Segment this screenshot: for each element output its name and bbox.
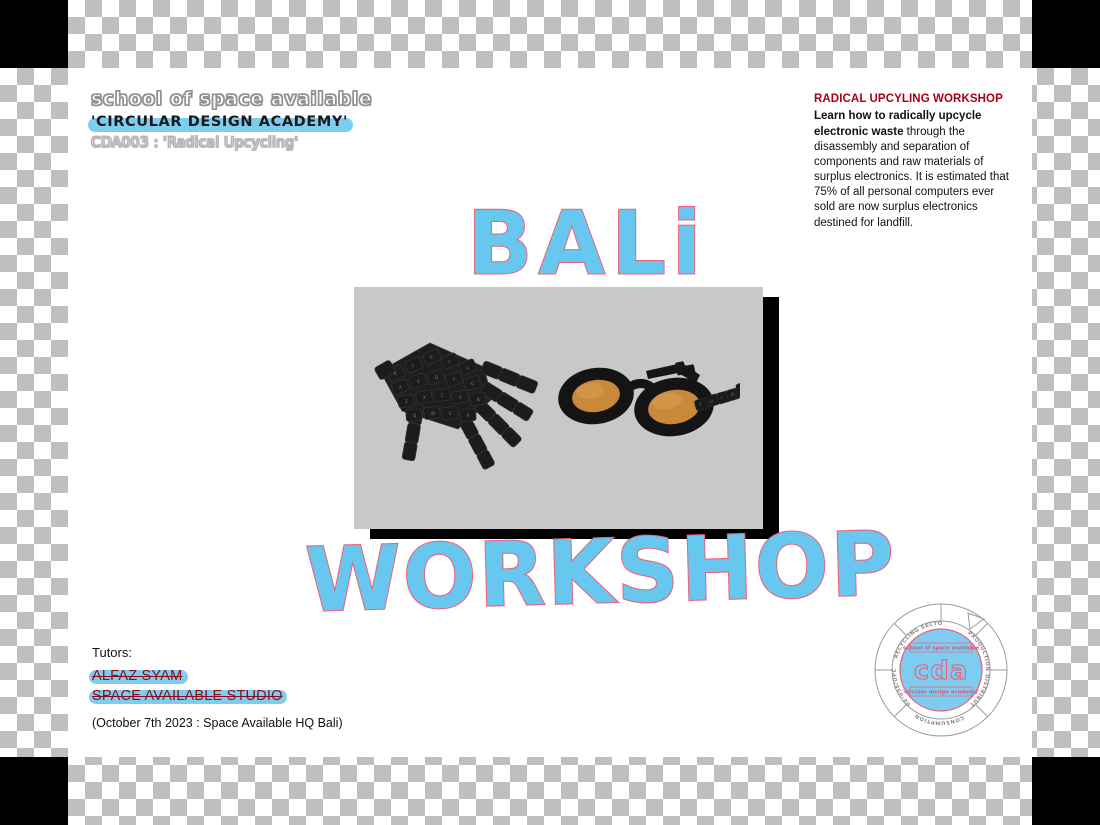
svg-text:A: A <box>399 385 402 390</box>
course-code: CDA003 : 'Radical Upcycling' <box>91 135 341 151</box>
svg-text:Y: Y <box>447 360 451 365</box>
cda-seal: RECYCLING SECTOR PRODUCTION DISTRIBUTION… <box>872 601 1010 739</box>
corner-block-top-right <box>1032 0 1100 68</box>
seal-center-top: school of space available <box>903 646 980 652</box>
svg-text:D: D <box>435 375 438 380</box>
seal-wordmark: cda <box>914 656 969 686</box>
copy-heading: RADICAL UPCYLING WORKSHOP <box>814 92 1016 106</box>
copy-body-rest: through the disassembly and separation o… <box>814 126 1009 229</box>
tutors-block: Tutors: ALFAZ SYAM SPACE AVAILABLE STUDI… <box>92 645 372 730</box>
header-lockup: school of space available 'CIRCULAR DESI… <box>91 88 341 151</box>
svg-text:U: U <box>710 399 713 404</box>
svg-text:R: R <box>467 413 470 418</box>
school-wordmark: school of space available <box>91 88 341 110</box>
tutors-label: Tutors: <box>92 645 372 660</box>
svg-text:B: B <box>477 397 480 402</box>
tutor-name: SPACE AVAILABLE STUDIO <box>92 688 283 704</box>
tutor-row: ALFAZ SYAM <box>92 668 182 684</box>
canvas-backdrop: school of space available 'CIRCULAR DESI… <box>0 0 1100 825</box>
svg-text:K: K <box>394 371 397 376</box>
svg-text:X: X <box>423 395 426 400</box>
copy-block: RADICAL UPCYLING WORKSHOP Learn how to r… <box>814 92 1016 231</box>
svg-text:Q: Q <box>413 413 416 418</box>
tutor-row: SPACE AVAILABLE STUDIO <box>92 688 283 704</box>
svg-text:G: G <box>471 381 474 386</box>
academy-title: 'CIRCULAR DESIGN ACADEMY' <box>91 114 348 130</box>
hero-photo: KLP YU ASD FG ZXC VB QWE R <box>354 287 763 529</box>
svg-text:U: U <box>466 366 469 371</box>
headline-bali: BALi <box>467 200 707 288</box>
keyboard-key-sunglasses: YUIO <box>550 349 740 459</box>
svg-text:Z: Z <box>405 399 408 404</box>
keyboard-key-glove: KLP YU ASD FG ZXC VB QWE R <box>372 333 552 493</box>
copy-body: Learn how to radically upcycle electroni… <box>814 109 1016 230</box>
seal-center-bottom: 'circular design academy' <box>902 690 980 696</box>
poster-card: school of space available 'CIRCULAR DESI… <box>68 68 1032 757</box>
cda-seal-graphic: RECYCLING SECTOR PRODUCTION DISTRIBUTION… <box>872 601 1010 739</box>
tutor-name: ALFAZ SYAM <box>92 668 182 684</box>
svg-text:Y: Y <box>698 402 702 407</box>
svg-text:C: C <box>441 393 444 398</box>
svg-text:W: W <box>431 411 435 416</box>
svg-text:V: V <box>459 395 462 400</box>
headline-workshop: WORKSHOP <box>304 520 897 625</box>
corner-block-bottom-left <box>0 757 68 825</box>
academy-title-wrap: 'CIRCULAR DESIGN ACADEMY' <box>91 113 348 131</box>
corner-block-bottom-right <box>1032 757 1100 825</box>
svg-text:I: I <box>721 395 722 400</box>
event-date-location: (October 7th 2023 : Space Available HQ B… <box>92 716 372 730</box>
svg-text:O: O <box>731 392 734 397</box>
corner-block-top-left <box>0 0 68 68</box>
